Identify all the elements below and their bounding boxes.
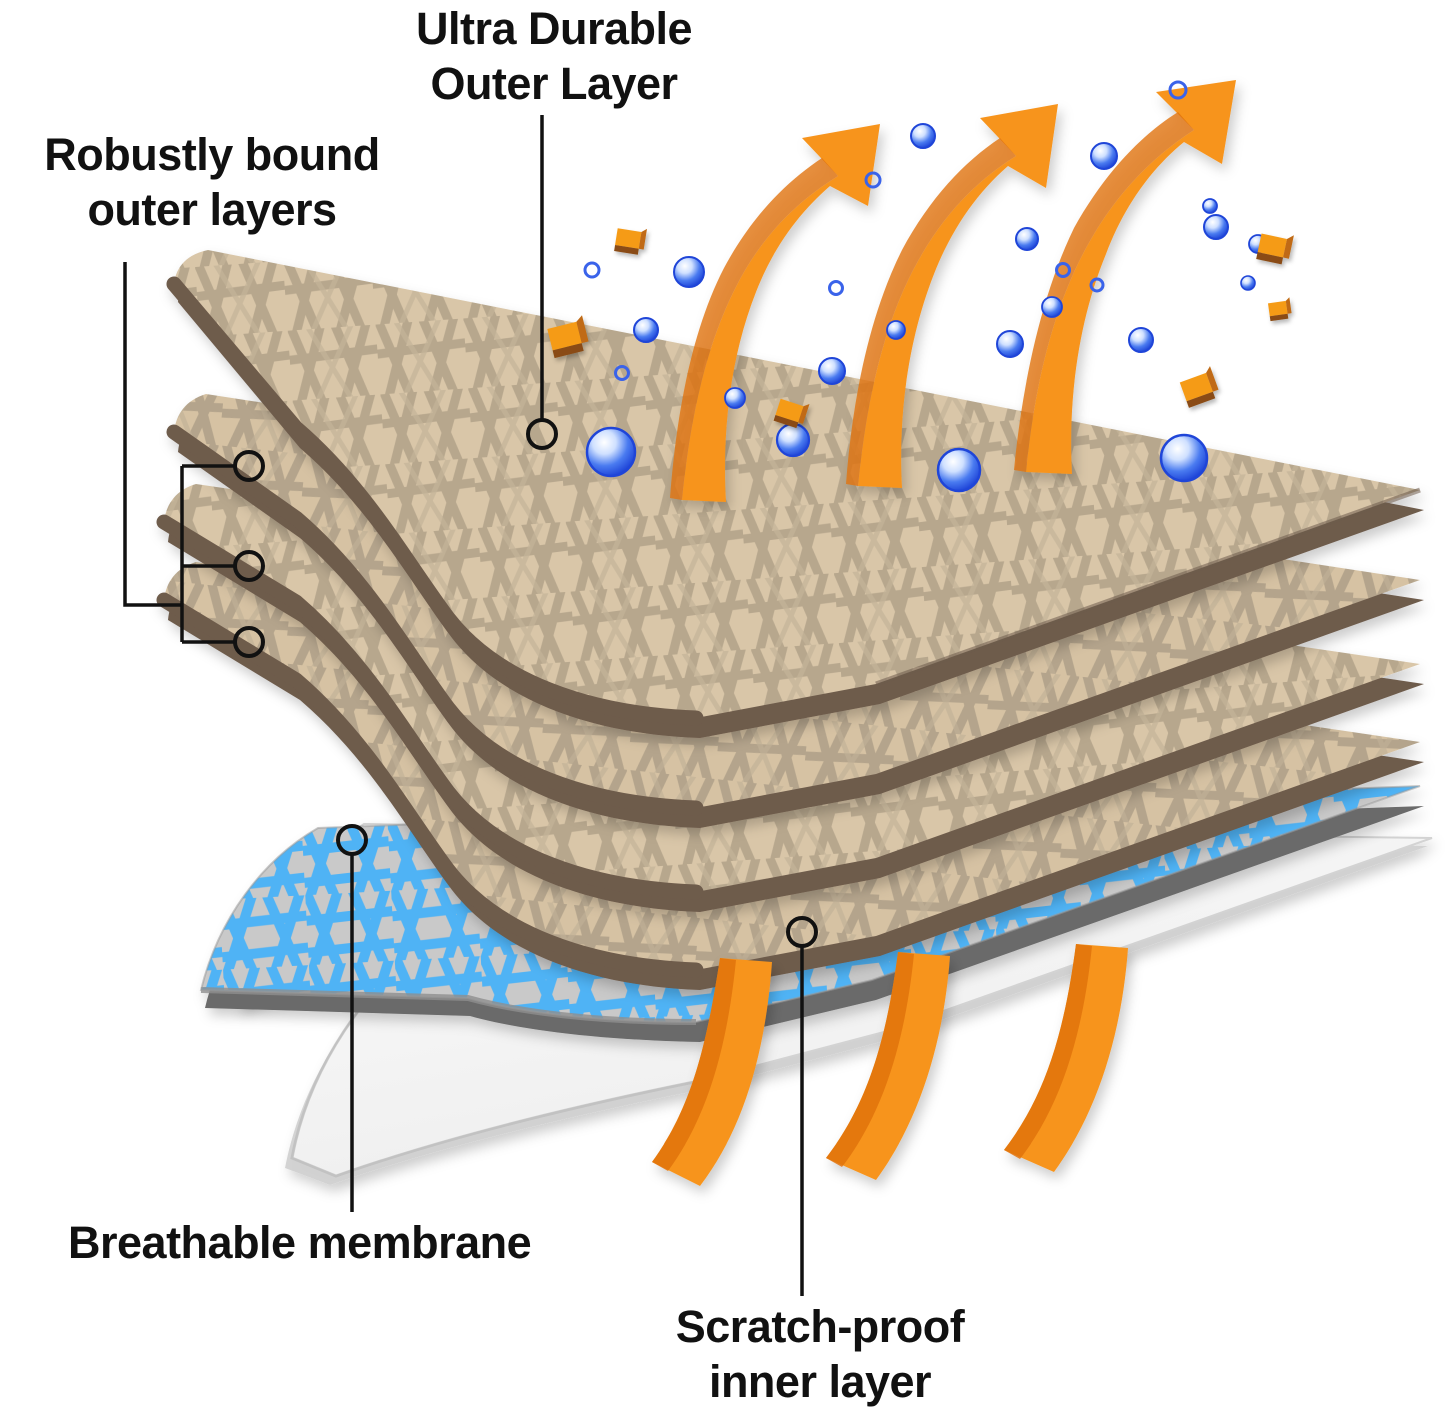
- diagram-canvas: Ultra Durable Outer Layer Robustly bound…: [0, 0, 1445, 1410]
- label-scratch-proof-inner-layer: Scratch-proof inner layer: [620, 1300, 1020, 1410]
- label-robustly-bound-outer-layers: Robustly bound outer layers: [2, 128, 422, 238]
- label-breathable-membrane: Breathable membrane: [68, 1216, 668, 1271]
- label-ultra-durable-outer-layer: Ultra Durable Outer Layer: [374, 2, 734, 112]
